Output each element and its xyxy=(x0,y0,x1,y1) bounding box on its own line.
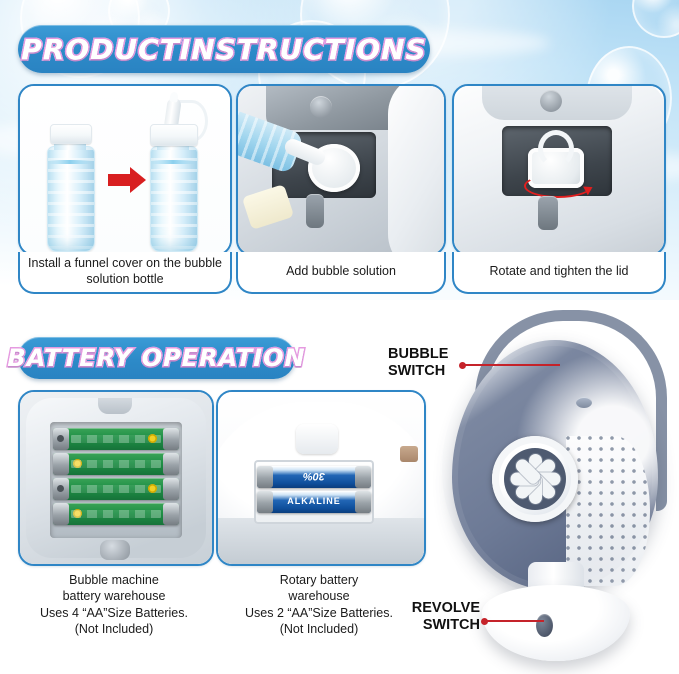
battery-print-bottom: ALKALINE xyxy=(279,496,349,506)
callout-revolve-switch: REVOLVE SWITCH xyxy=(404,600,480,634)
battery-badge xyxy=(148,434,157,443)
caption-text: Install a funnel cover on the bubble sol… xyxy=(20,256,230,287)
caption-rotary-battery: Rotary battery warehouse Uses 2 “AA”Size… xyxy=(216,572,422,652)
rotation-arrow-icon xyxy=(524,174,592,198)
caption-line: battery warehouse xyxy=(18,588,210,604)
base-side-connector xyxy=(400,446,418,462)
tank-latch-lower xyxy=(538,196,558,230)
photo-card-add-bubble-solution xyxy=(236,84,446,256)
caption-rotate-tighten-lid: Rotate and tighten the lid xyxy=(452,252,666,294)
photo-card-install-funnel-cover xyxy=(18,84,232,256)
funnel-cap-base xyxy=(150,124,198,146)
photo-card-rotary-battery: 30% ALKALINE xyxy=(216,390,426,566)
battery-label-print xyxy=(71,510,161,518)
funnel-cap-tip xyxy=(169,91,178,102)
photo-add-solution xyxy=(238,86,444,254)
bottle-plain xyxy=(47,120,93,250)
battery-terminal xyxy=(163,478,179,500)
caption-line: Uses 2 “AA”Size Batteries. xyxy=(216,605,422,621)
battery-terminal xyxy=(355,491,371,513)
caption-line: warehouse xyxy=(216,588,422,604)
battery-cell xyxy=(53,428,179,450)
bottle-cap xyxy=(50,124,92,144)
battery-cell xyxy=(53,478,179,500)
caption-text: Rotate and tighten the lid xyxy=(490,264,629,280)
battery-terminal xyxy=(163,453,179,475)
photo-tighten-lid xyxy=(454,86,664,254)
caption-install-funnel-cover: Install a funnel cover on the bubble sol… xyxy=(18,252,232,294)
product-instruction-infographic: PRODUCTINSTRUCTIONS xyxy=(0,0,679,674)
battery-terminal xyxy=(163,503,179,525)
battery-terminal xyxy=(355,466,371,488)
photo-rotary-battery-compartment: 30% ALKALINE xyxy=(218,392,424,564)
callout-line-2: SWITCH xyxy=(388,363,448,380)
battery-negative-nub xyxy=(57,485,64,492)
machine-side-shell xyxy=(388,86,444,254)
battery-terminal xyxy=(257,491,273,513)
banner-product-instructions-label: PRODUCTINSTRUCTIONS xyxy=(21,33,426,66)
battery-terminal xyxy=(257,466,273,488)
battery-negative-nub xyxy=(57,435,64,442)
tank-latch-icon xyxy=(540,90,562,112)
caption-line: (Not Included) xyxy=(18,621,210,637)
battery-cell xyxy=(53,503,179,525)
battery-terminal xyxy=(163,428,179,450)
bubble-switch-button[interactable] xyxy=(576,397,592,408)
battery-tray-two-cells: 30% ALKALINE xyxy=(254,460,374,524)
bottle-liquid-line xyxy=(48,160,92,164)
callout-bubble-switch: BUBBLE SWITCH xyxy=(388,346,448,380)
callout-line-2: SWITCH xyxy=(404,617,480,634)
battery-door-screw xyxy=(100,540,130,560)
caption-bubble-machine-battery: Bubble machine battery warehouse Uses 4 … xyxy=(18,572,210,652)
red-arrow-icon xyxy=(108,174,132,186)
bottle-with-funnel-cap xyxy=(150,120,196,250)
battery-terminal xyxy=(53,503,69,525)
caption-line: Bubble machine xyxy=(18,572,210,588)
caption-add-bubble-solution: Add bubble solution xyxy=(236,252,446,294)
tank-latch-icon xyxy=(310,96,332,118)
tank-latch-lower xyxy=(306,194,324,228)
bubble-wand xyxy=(492,436,578,522)
callout-line-1: REVOLVE xyxy=(404,600,480,617)
battery-print-top: 30% xyxy=(279,470,349,482)
bottle-funnel-loop xyxy=(538,130,574,168)
leader-line-bubble-switch xyxy=(462,364,560,366)
battery-tray-four-cells xyxy=(50,422,182,538)
base-bottom-edge xyxy=(218,518,424,564)
caption-line: (Not Included) xyxy=(216,621,422,637)
bottle-liquid-line xyxy=(151,160,195,164)
machine-base xyxy=(482,585,630,661)
bubble-wand-core xyxy=(504,448,566,510)
battery-terminal xyxy=(53,453,69,475)
base-mount-boss xyxy=(296,424,338,454)
photo-funnel-cover xyxy=(20,86,230,254)
photo-machine-battery-compartment xyxy=(20,392,212,564)
caption-line: Rotary battery xyxy=(216,572,422,588)
battery-badge xyxy=(148,484,157,493)
banner-product-instructions: PRODUCTINSTRUCTIONS xyxy=(18,25,430,73)
battery-cell: 30% xyxy=(257,466,371,488)
battery-cell xyxy=(53,453,179,475)
battery-cell: ALKALINE xyxy=(257,491,371,513)
photo-card-bubble-machine-battery xyxy=(18,390,214,566)
revolve-switch-button[interactable] xyxy=(536,614,553,637)
battery-door-tab-top xyxy=(98,398,132,414)
caption-text: Add bubble solution xyxy=(286,264,396,280)
leader-line-revolve-switch xyxy=(484,620,544,622)
banner-battery-operation-label: BATTERY OPERATION xyxy=(7,344,305,372)
battery-label-print xyxy=(71,460,161,468)
leader-dot xyxy=(481,618,488,625)
decorative-bubble xyxy=(632,0,679,38)
photo-card-rotate-tighten-lid xyxy=(452,84,666,256)
caption-line: Uses 4 “AA”Size Batteries. xyxy=(18,605,210,621)
callout-line-1: BUBBLE xyxy=(388,346,448,363)
banner-battery-operation: BATTERY OPERATION xyxy=(18,337,295,379)
leader-dot xyxy=(459,362,466,369)
